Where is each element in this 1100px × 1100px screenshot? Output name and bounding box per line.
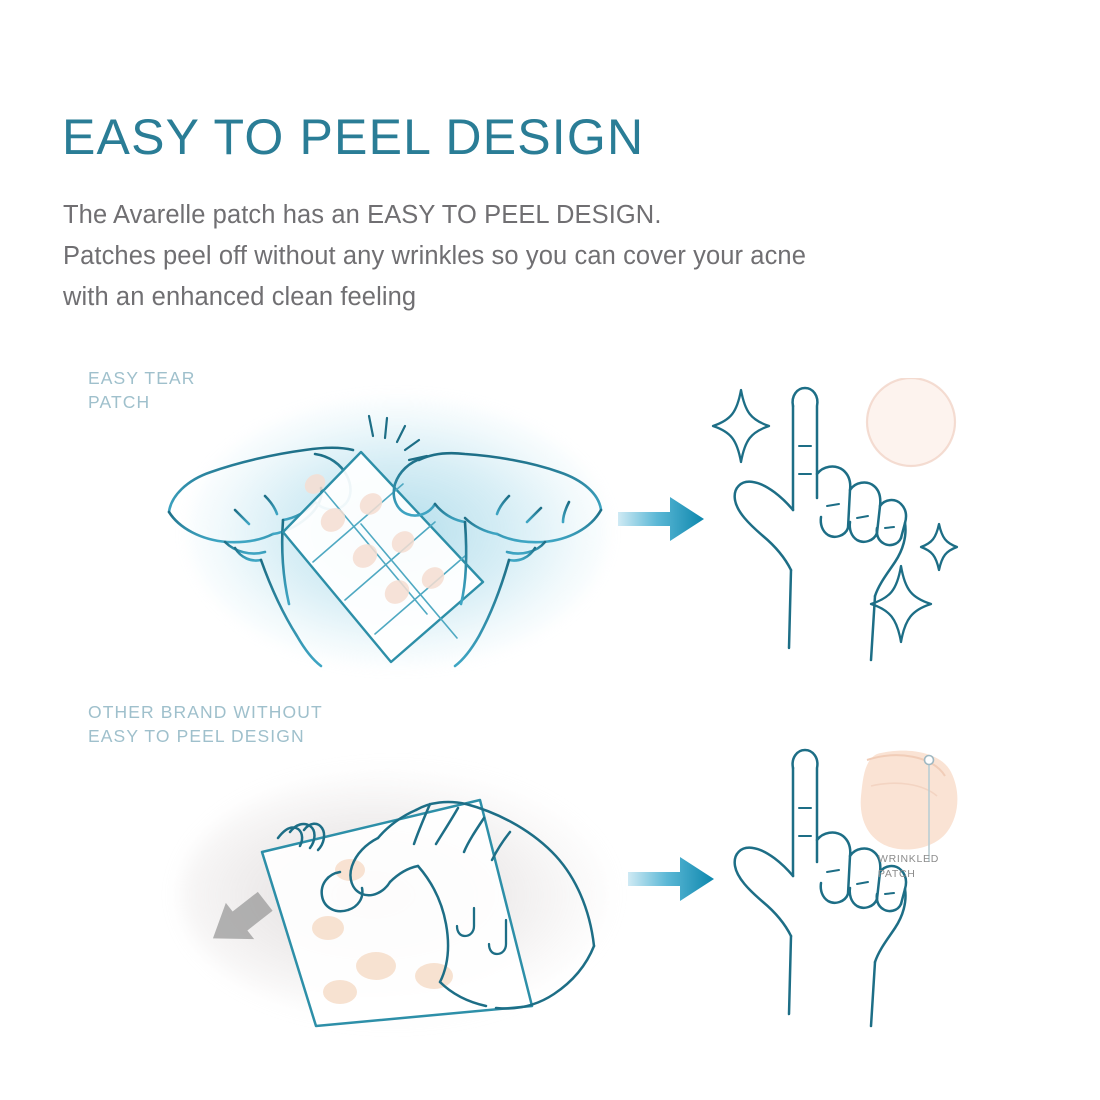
arrow-right-icon-row1	[618, 492, 704, 546]
gray-arrow-icon	[201, 883, 280, 959]
section-label-other-brand-line-1: OTHER BRAND WITHOUT	[88, 700, 323, 724]
illustration-hands-tearing-patch	[165, 392, 605, 682]
section-label-easy-tear-line-1: EASY TEAR	[88, 366, 196, 390]
wrinkled-patch-icon	[861, 751, 958, 850]
section-label-other-brand: OTHER BRAND WITHOUT EASY TO PEEL DESIGN	[88, 700, 323, 748]
page-title: EASY TO PEEL DESIGN	[62, 112, 644, 162]
body-line-3: with an enhanced clean feeling	[63, 277, 983, 318]
callout-label-line-1: WRINKLED	[878, 852, 939, 867]
body-copy: The Avarelle patch has an EASY TO PEEL D…	[63, 195, 983, 318]
illustration-hand-clean-patch	[705, 378, 975, 673]
illustration-hand-struggling-peel	[180, 760, 600, 1030]
section-label-other-brand-line-2: EASY TO PEEL DESIGN	[88, 724, 323, 748]
illustration-hand-wrinkled-patch	[715, 742, 980, 1037]
body-line-1: The Avarelle patch has an EASY TO PEEL D…	[63, 195, 983, 236]
callout-label-wrinkled-patch: WRINKLED PATCH	[878, 852, 939, 882]
callout-label-line-2: PATCH	[878, 867, 939, 882]
clean-patch-icon	[867, 378, 955, 466]
infographic-page: EASY TO PEEL DESIGN The Avarelle patch h…	[0, 0, 1100, 1100]
body-line-2: Patches peel off without any wrinkles so…	[63, 236, 983, 277]
arrow-right-icon-row2	[628, 852, 714, 906]
